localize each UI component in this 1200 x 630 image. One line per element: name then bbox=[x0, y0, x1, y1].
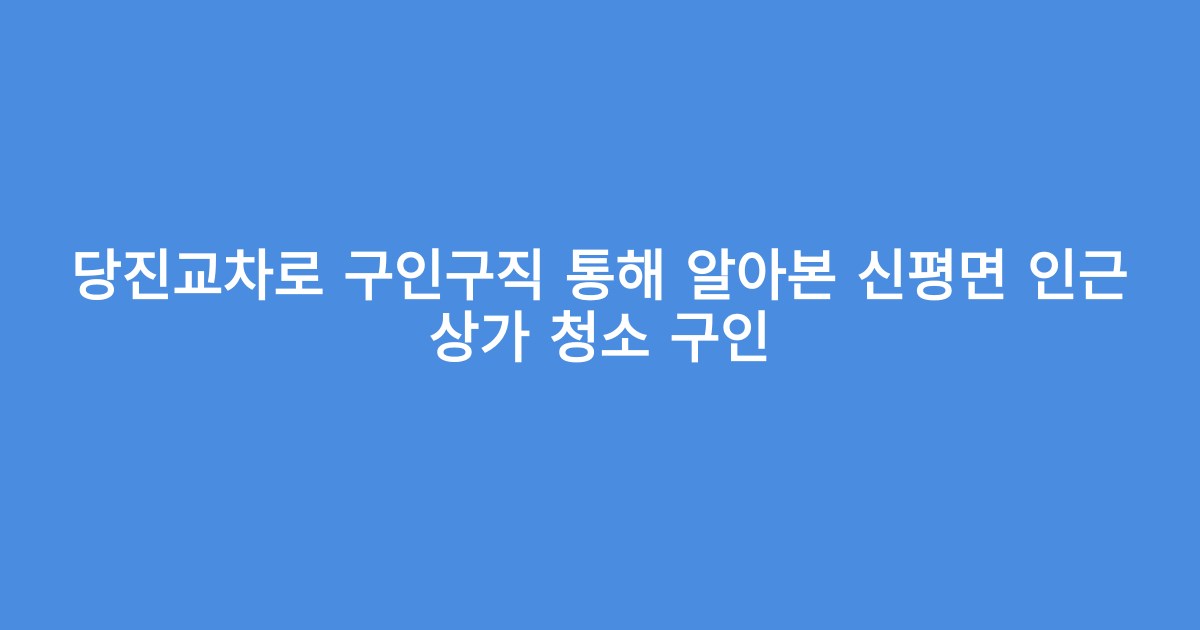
headline-line-1: 당진교차로 구인구직 통해 알아본 신평면 인근 bbox=[70, 245, 1130, 307]
headline-line-2: 상가 청소 구인 bbox=[70, 307, 1130, 369]
banner-card: 당진교차로 구인구직 통해 알아본 신평면 인근 상가 청소 구인 bbox=[0, 0, 1200, 630]
headline-block: 당진교차로 구인구직 통해 알아본 신평면 인근 상가 청소 구인 bbox=[70, 245, 1130, 369]
